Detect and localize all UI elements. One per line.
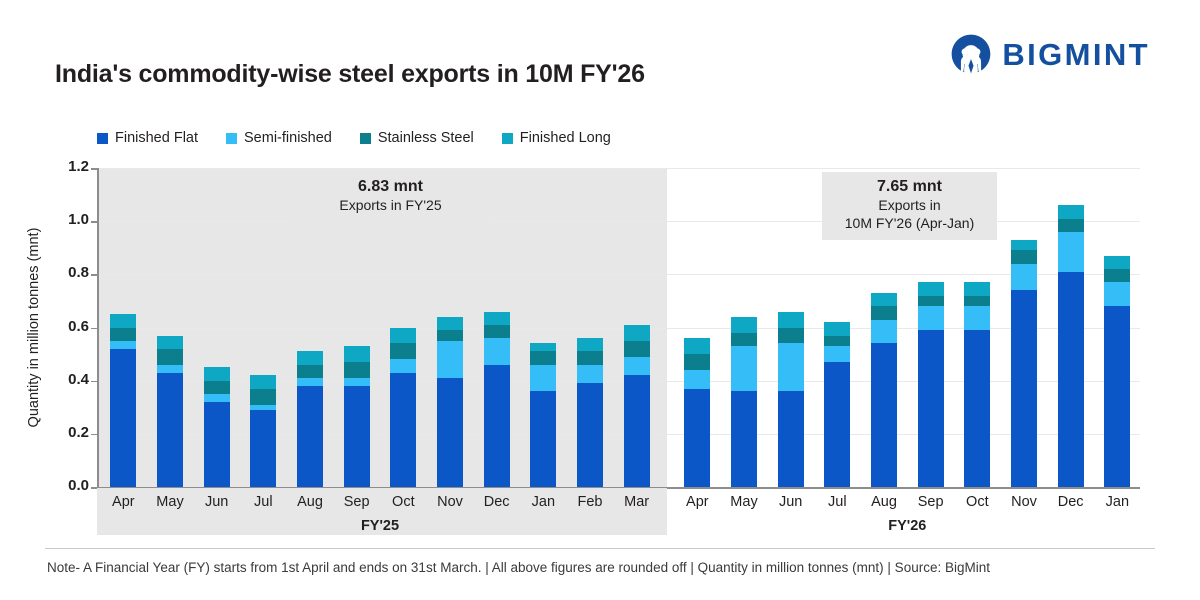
bar-segment [297, 365, 323, 378]
bar-segment [918, 306, 944, 330]
annotation-value: 6.83 mnt [302, 177, 479, 197]
bar-segment [624, 325, 650, 341]
footnote: Note- A Financial Year (FY) starts from … [47, 560, 990, 575]
bar-segment [824, 322, 850, 335]
bar-stack[interactable] [530, 343, 556, 487]
bar-segment [157, 336, 183, 349]
bar-segment [1011, 250, 1037, 263]
fy25-group-label: FY'25 [320, 518, 440, 534]
bar-segment [1104, 269, 1130, 282]
bar-segment [530, 343, 556, 351]
bar-segment [964, 282, 990, 295]
bar-segment [484, 312, 510, 325]
bar-segment [778, 312, 804, 328]
bar-segment [297, 378, 323, 386]
bar-segment [871, 306, 897, 319]
annotation-fy25: 6.83 mnt Exports in FY'25 [288, 172, 493, 222]
bar-segment [110, 349, 136, 487]
bar-segment [204, 402, 230, 487]
bar-segment [964, 306, 990, 330]
footer-divider [45, 548, 1155, 549]
bar-segment [684, 338, 710, 354]
bar-stack[interactable] [390, 328, 416, 487]
bar-segment [204, 394, 230, 402]
bar-segment [1058, 232, 1084, 272]
x-axis-tick-label: Mar [607, 494, 667, 510]
bar-segment [1104, 256, 1130, 269]
bar-segment [204, 367, 230, 380]
bar-segment [1104, 306, 1130, 487]
bar-stack[interactable] [731, 317, 757, 487]
bar-segment [964, 330, 990, 487]
bar-stack[interactable] [918, 282, 944, 487]
y-axis-tick-label: 0.4 [43, 371, 89, 388]
bar-segment [1058, 272, 1084, 487]
bar-segment [390, 343, 416, 359]
bar-segment [731, 346, 757, 391]
bar-stack[interactable] [297, 351, 323, 487]
annotation-line2: 10M FY'26 (Apr-Jan) [836, 215, 983, 233]
bar-segment [250, 389, 276, 405]
bar-segment [437, 330, 463, 341]
y-axis-tick-label: 0.6 [43, 318, 89, 335]
annotation-fy26: 7.65 mnt Exports in 10M FY'26 (Apr-Jan) [822, 172, 997, 240]
chart-page: India's commodity-wise steel exports in … [0, 0, 1200, 600]
bar-segment [484, 325, 510, 338]
bar-segment [577, 383, 603, 487]
bar-segment [484, 365, 510, 487]
bar-segment [731, 333, 757, 346]
bar-stack[interactable] [624, 325, 650, 487]
bar-segment [824, 336, 850, 347]
annotation-line1: Exports in FY'25 [302, 197, 479, 215]
bar-segment [530, 351, 556, 364]
bar-segment [250, 410, 276, 487]
bar-segment [297, 351, 323, 364]
bar-segment [918, 330, 944, 487]
bar-segment [684, 354, 710, 370]
bar-segment [778, 328, 804, 344]
chart-area: Quantity in million tonnes (mnt) 1.21.00… [0, 0, 1200, 600]
bar-segment [624, 357, 650, 376]
bar-segment [824, 362, 850, 487]
bar-stack[interactable] [871, 293, 897, 487]
bar-segment [344, 378, 370, 386]
bar-segment [110, 328, 136, 341]
bar-stack[interactable] [778, 312, 804, 487]
bar-segment [964, 296, 990, 307]
bar-segment [1104, 282, 1130, 306]
y-axis-tick-label: 0.2 [43, 424, 89, 441]
bar-stack[interactable] [484, 312, 510, 487]
bar-segment [577, 338, 603, 351]
bar-segment [778, 391, 804, 487]
bar-stack[interactable] [344, 346, 370, 487]
bar-segment [250, 375, 276, 388]
bar-segment [344, 386, 370, 487]
y-axis-tick-label: 1.0 [43, 211, 89, 228]
bar-segment [1011, 240, 1037, 251]
bar-segment [110, 341, 136, 349]
y-axis-tick-label: 0.8 [43, 264, 89, 281]
bar-segment [684, 370, 710, 389]
bar-stack[interactable] [684, 338, 710, 487]
y-axis-tick-label: 1.2 [43, 158, 89, 175]
bar-segment [871, 293, 897, 306]
bar-segment [437, 378, 463, 487]
bar-segment [577, 351, 603, 364]
bar-segment [390, 373, 416, 487]
annotation-line1: Exports in [836, 197, 983, 215]
bar-segment [871, 343, 897, 487]
bar-segment [484, 338, 510, 365]
bar-stack[interactable] [250, 375, 276, 487]
bar-segment [437, 317, 463, 330]
bar-segment [778, 343, 804, 391]
fy26-group-label: FY'26 [847, 518, 967, 534]
bar-stack[interactable] [437, 317, 463, 487]
bar-segment [157, 365, 183, 373]
bar-segment [157, 373, 183, 487]
annotation-value: 7.65 mnt [836, 177, 983, 197]
bar-segment [204, 381, 230, 394]
bar-segment [684, 389, 710, 487]
bar-stack[interactable] [577, 338, 603, 487]
bar-stack[interactable] [1104, 256, 1130, 487]
bar-segment [344, 346, 370, 362]
bar-stack[interactable] [204, 367, 230, 487]
bar-stack[interactable] [1011, 240, 1037, 487]
bar-segment [731, 317, 757, 333]
bar-segment [390, 359, 416, 372]
bar-segment [918, 282, 944, 295]
bar-stack[interactable] [964, 282, 990, 487]
bar-segment [871, 320, 897, 344]
y-axis-tick-label: 0.0 [43, 477, 89, 494]
bar-segment [1058, 219, 1084, 232]
bar-segment [297, 386, 323, 487]
bar-segment [530, 365, 556, 392]
bar-segment [344, 362, 370, 378]
bar-stack[interactable] [1058, 205, 1084, 487]
bar-segment [731, 391, 757, 487]
bar-segment [577, 365, 603, 384]
bar-segment [1058, 205, 1084, 218]
bar-segment [824, 346, 850, 362]
bar-segment [1011, 264, 1037, 291]
bar-segment [1011, 290, 1037, 487]
bar-stack[interactable] [824, 322, 850, 487]
bar-segment [390, 328, 416, 344]
bar-stack[interactable] [157, 336, 183, 487]
bar-segment [110, 314, 136, 327]
bar-segment [437, 341, 463, 378]
bar-segment [157, 349, 183, 365]
bar-segment [624, 375, 650, 487]
bar-segment [624, 341, 650, 357]
bar-segment [530, 391, 556, 487]
bar-segment [918, 296, 944, 307]
bar-stack[interactable] [110, 314, 136, 487]
x-axis-tick-label: Jan [1087, 494, 1147, 510]
